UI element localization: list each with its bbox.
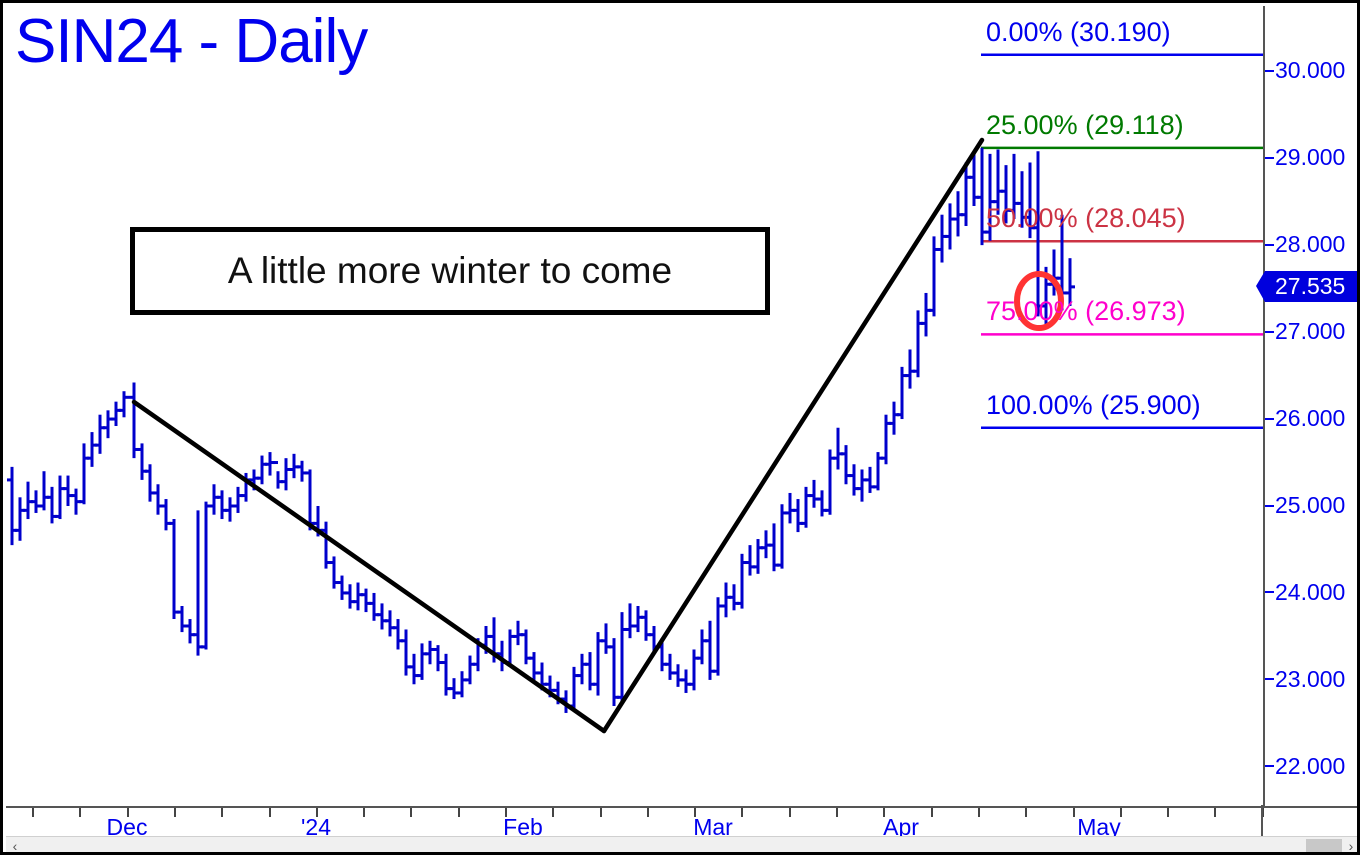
price-tick-dash	[1265, 70, 1274, 72]
price-tick-dash	[1265, 505, 1274, 507]
price-tick: 26.000	[1265, 407, 1345, 430]
time-tick	[789, 808, 791, 817]
scrollbar-thumb[interactable]	[1306, 839, 1342, 854]
time-tick	[600, 808, 602, 817]
fib-0-label: 0.00% (30.190)	[986, 19, 1171, 46]
time-tick	[221, 808, 223, 817]
price-tick-label: 24.000	[1275, 581, 1345, 604]
time-tick	[174, 808, 176, 817]
time-tick	[1025, 808, 1027, 817]
time-tick	[741, 808, 743, 817]
price-tick: 25.000	[1265, 494, 1345, 517]
price-tick-label: 28.000	[1275, 233, 1345, 256]
current-price-label: 27.535	[1265, 275, 1345, 298]
time-tick	[836, 808, 838, 817]
horizontal-scrollbar[interactable]: ‹ ›	[6, 836, 1360, 855]
price-tick-dash	[1265, 331, 1274, 333]
time-axis[interactable]: Dec'24FebMarAprMay	[6, 806, 1360, 836]
time-tick	[363, 808, 365, 817]
annotation-label: A little more winter to come	[228, 250, 672, 292]
price-tick-label: 26.000	[1275, 407, 1345, 430]
price-tick-label: 27.000	[1275, 320, 1345, 343]
time-tick	[931, 808, 933, 817]
price-tick-dash	[1265, 765, 1274, 767]
time-tick	[978, 808, 980, 817]
time-tick	[458, 808, 460, 817]
time-tick	[79, 808, 81, 817]
scrollbar-track[interactable]	[24, 837, 1342, 855]
time-tick	[647, 808, 649, 817]
axis-divider	[1261, 805, 1263, 838]
scroll-right-arrow-icon[interactable]: ›	[1342, 837, 1360, 855]
annotation-textbox[interactable]: A little more winter to come	[130, 227, 770, 315]
fib-25-label: 25.00% (29.118)	[986, 112, 1184, 139]
current-price-badge: 27.535	[1265, 271, 1360, 302]
time-tick	[410, 808, 412, 817]
time-tick	[1214, 808, 1216, 817]
time-tick	[552, 808, 554, 817]
time-tick	[32, 808, 34, 817]
price-tick-label: 29.000	[1275, 146, 1345, 169]
fib-75-label: 75.00% (26.973)	[986, 298, 1186, 325]
time-tick	[269, 808, 271, 817]
price-tick-dash	[1265, 244, 1274, 246]
price-tick: 22.000	[1265, 755, 1345, 778]
price-tick: 28.000	[1265, 233, 1345, 256]
price-tick-dash	[1265, 678, 1274, 680]
current-price-arrow	[1256, 271, 1265, 302]
chart-window: SIN24 - Daily A little more winter to co…	[0, 0, 1360, 855]
time-tick	[1167, 808, 1169, 817]
page-title: SIN24 - Daily	[15, 11, 367, 73]
price-tick-dash	[1265, 591, 1274, 593]
price-tick: 24.000	[1265, 581, 1345, 604]
price-tick-label: 25.000	[1275, 494, 1345, 517]
price-tick-dash	[1265, 157, 1274, 159]
fib-50-label: 50.00% (28.045)	[986, 205, 1186, 232]
time-tick	[1073, 808, 1075, 817]
price-tick-dash	[1265, 418, 1274, 420]
price-tick: 23.000	[1265, 668, 1345, 691]
price-tick-label: 23.000	[1275, 668, 1345, 691]
price-tick: 30.000	[1265, 59, 1345, 82]
scroll-left-arrow-icon[interactable]: ‹	[6, 837, 24, 855]
price-tick: 29.000	[1265, 146, 1345, 169]
fib-100-label: 100.00% (25.900)	[986, 392, 1201, 419]
price-axis[interactable]: 30.00029.00028.00027.00026.00025.00024.0…	[1263, 6, 1360, 806]
price-tick-label: 30.000	[1275, 59, 1345, 82]
price-tick-label: 22.000	[1275, 755, 1345, 778]
price-tick: 27.000	[1265, 320, 1345, 343]
